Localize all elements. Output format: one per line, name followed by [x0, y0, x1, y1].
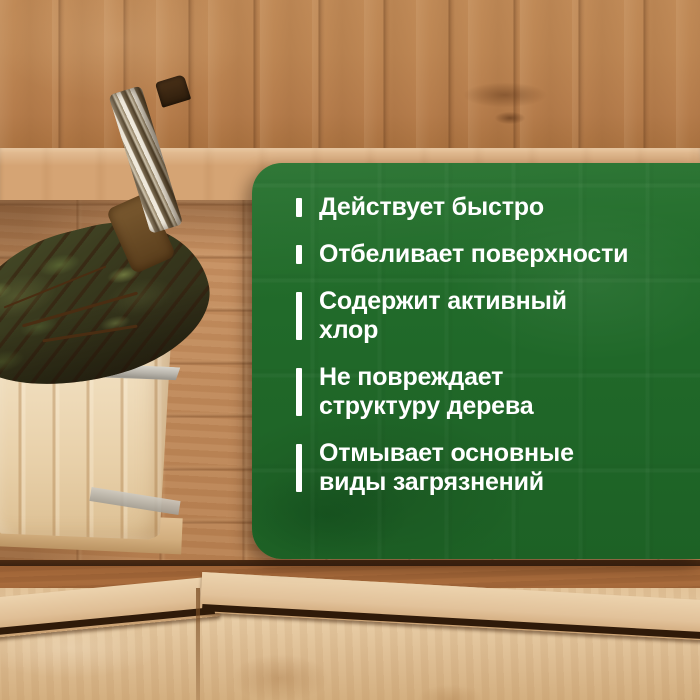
bullet-bar-icon	[296, 198, 302, 217]
product-promo-image: Действует быстро Отбеливает поверхности …	[0, 0, 700, 700]
birch-broom-venik	[0, 80, 260, 350]
list-item: Содержит активный хлор	[296, 287, 682, 345]
list-item: Не повреждает структуру дерева	[296, 363, 682, 421]
bullet-bar-icon	[296, 292, 302, 340]
feature-list: Действует быстро Отбеливает поверхности …	[296, 193, 682, 497]
bullet-bar-icon	[296, 444, 302, 492]
bench-corner-seam	[196, 588, 200, 700]
feature-label: Содержит активный хлор	[319, 287, 567, 345]
bullet-bar-icon	[296, 245, 302, 264]
list-item: Отмывает основные виды загрязнений	[296, 439, 682, 497]
feature-label: Действует быстро	[319, 193, 544, 222]
feature-label: Отмывает основные виды загрязнений	[319, 439, 574, 497]
feature-label: Не повреждает структуру дерева	[319, 363, 533, 421]
venik-handle-tip	[155, 74, 191, 108]
bullet-bar-icon	[296, 368, 302, 416]
feature-label: Отбеливает поверхности	[319, 240, 628, 269]
list-item: Отбеливает поверхности	[296, 240, 682, 269]
features-panel: Действует быстро Отбеливает поверхности …	[252, 163, 700, 559]
list-item: Действует быстро	[296, 193, 682, 222]
